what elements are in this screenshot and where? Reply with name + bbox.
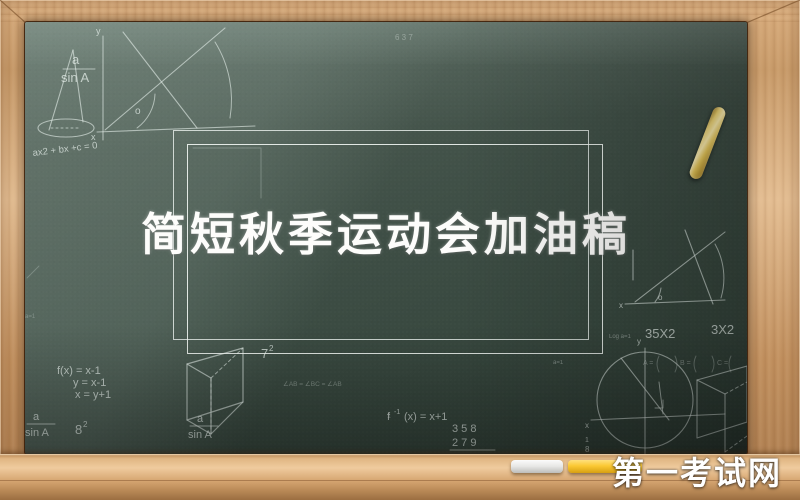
white-chalk-piece[interactable] xyxy=(511,460,563,473)
frame-grain-top xyxy=(0,0,800,22)
chalkboard-scene: a sin A ax2 + bx +c = 0 y x o xyxy=(0,0,800,500)
frame-corner-top-right xyxy=(746,0,800,24)
chalkboard-surface: a sin A ax2 + bx +c = 0 y x o xyxy=(25,22,747,454)
watermark: 第一考试网 xyxy=(612,448,782,494)
page-title: 简短秋季运动会加油稿 xyxy=(50,212,722,257)
frame-corner-top-left xyxy=(0,0,26,24)
